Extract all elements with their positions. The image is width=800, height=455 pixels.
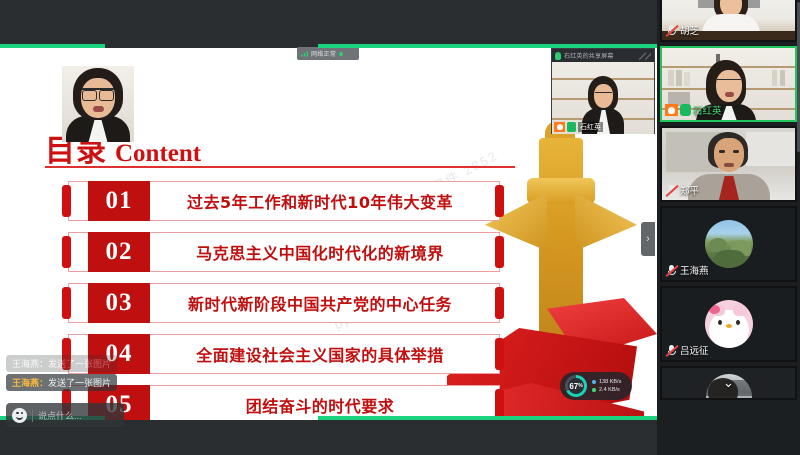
upload-rate: 2.4 KB/s — [599, 387, 620, 393]
divider — [32, 409, 33, 422]
chat-input-bar[interactable]: 说点什么... — [6, 403, 124, 427]
chat-message-body: 发送了一张图片 — [48, 378, 111, 388]
avatar — [705, 220, 753, 268]
mic-on-icon — [680, 104, 691, 116]
row-cap-right — [495, 236, 504, 268]
mic-muted-icon — [665, 264, 678, 277]
participant-name: 郑平 — [680, 183, 699, 197]
gauge-unit: % — [578, 383, 582, 389]
status-dot-icon — [339, 52, 343, 56]
participant-name: 王海燕 — [680, 263, 709, 277]
mic-muted-icon — [665, 344, 678, 357]
share-status-pill[interactable]: 网络正常 — [297, 47, 359, 60]
row-cap-left — [62, 236, 71, 268]
next-slide-button[interactable]: › — [641, 222, 655, 256]
participant-name: 吕远征 — [680, 343, 709, 357]
participant-tile[interactable]: 郑平 — [660, 126, 797, 202]
mic-on-icon — [567, 122, 576, 132]
participant-tile[interactable]: 吕远征 — [660, 286, 797, 362]
floating-window-title: 石红英的共享屏幕 — [564, 51, 636, 60]
mic-muted-icon — [665, 24, 678, 37]
chat-message: 王海燕：发送了一张图片 — [6, 355, 117, 372]
tile-badges: 吕远征 — [665, 343, 709, 357]
slide-content-list: 01 过去5年工作和新时代10年伟大变革 02 马克思主义中国化时代化的新境界 … — [58, 181, 500, 420]
share-border-top-right — [318, 44, 657, 48]
upload-dot-icon — [592, 388, 596, 392]
stat-lines: 138 KB/s 2.4 KB/s — [592, 379, 621, 393]
gauge-value: 67 — [569, 382, 578, 391]
speaker-pip-video[interactable] — [62, 66, 134, 142]
list-item-text: 全面建设社会主义国家的具体举措 — [158, 334, 482, 374]
row-cap-right — [495, 185, 504, 217]
avatar — [705, 300, 753, 348]
stat-line-download: 138 KB/s — [592, 379, 621, 385]
row-cap-right — [495, 338, 504, 370]
tile-badges: 胡芝 — [665, 23, 699, 37]
chat-message: 王海燕：发送了一张图片 — [6, 374, 117, 391]
row-cap-left — [62, 185, 71, 217]
participant-name: 石红英 — [693, 103, 722, 117]
list-item-number: 03 — [88, 283, 150, 323]
meeting-window: 网络正常 精品课件 2852 ppt x 86 39 目录 Content — [0, 0, 800, 455]
row-cap-right — [495, 287, 504, 319]
cpu-gauge: 67% — [565, 375, 587, 397]
chevron-down-icon[interactable]: ⌄ — [723, 375, 734, 391]
slide-title-en: Content — [115, 140, 201, 168]
list-item-text: 团结奋斗的时代要求 — [158, 385, 482, 420]
list-item-text: 过去5年工作和新时代10年伟大变革 — [158, 181, 482, 221]
list-item-text: 马克思主义中国化时代化的新境界 — [158, 232, 482, 272]
participant-tile-partial[interactable]: ⌄ — [660, 366, 797, 400]
tile-badges: 石红英 — [665, 103, 722, 117]
list-item: 02 马克思主义中国化时代化的新境界 — [58, 232, 500, 272]
shared-content-stage: 网络正常 精品课件 2852 ppt x 86 39 目录 Content — [0, 0, 657, 455]
list-item: 04 全面建设社会主义国家的具体举措 — [58, 334, 500, 374]
list-item-number: 01 — [88, 181, 150, 221]
stat-line-upload: 2.4 KB/s — [592, 387, 621, 393]
emoji-icon[interactable] — [12, 408, 27, 423]
list-item-number: 02 — [88, 232, 150, 272]
share-status-label: 网络正常 — [311, 49, 336, 58]
floating-window-video: 石红英 — [552, 62, 654, 134]
host-icon — [665, 104, 678, 116]
participant-name: 胡芝 — [680, 23, 699, 37]
floating-video-window[interactable]: 石红英的共享屏幕 石红英 — [551, 48, 655, 134]
download-rate: 138 KB/s — [599, 379, 621, 385]
signal-icon — [301, 51, 308, 57]
list-item: 03 新时代新阶段中国共产党的中心任务 — [58, 283, 500, 323]
share-border-bottom-right — [318, 416, 657, 420]
list-item: 01 过去5年工作和新时代10年伟大变革 — [58, 181, 500, 221]
participant-tile[interactable]: 王海燕 — [660, 206, 797, 282]
host-icon — [554, 122, 565, 132]
download-dot-icon — [592, 380, 596, 384]
chat-input[interactable]: 说点什么... — [38, 409, 118, 422]
floating-window-badges: 石红英 — [554, 122, 603, 132]
list-item-text: 新时代新阶段中国共产党的中心任务 — [158, 283, 482, 323]
participant-tile-active-speaker[interactable]: 石红英 — [660, 46, 797, 122]
chat-message-list: 王海燕：发送了一张图片 王海燕：发送了一张图片 — [6, 355, 117, 391]
list-item: 05 团结奋斗的时代要求 — [58, 385, 500, 420]
chevron-right-icon: › — [646, 233, 650, 245]
share-border-top-left — [0, 44, 105, 48]
tile-badges: 郑平 — [665, 183, 699, 197]
participant-rail[interactable]: 胡芝 石红英 — [657, 0, 800, 455]
minimize-icon[interactable] — [639, 52, 651, 60]
chat-message-sender: 王海燕： — [12, 378, 48, 388]
participant-tile[interactable]: 胡芝 — [660, 0, 797, 42]
mic-muted-icon — [665, 184, 678, 197]
row-cap-left — [62, 287, 71, 319]
network-stats-widget[interactable]: 67% 138 KB/s 2.4 KB/s — [560, 372, 632, 400]
mic-icon — [555, 52, 561, 60]
tile-badges: 王海燕 — [665, 263, 709, 277]
floating-window-titlebar[interactable]: 石红英的共享屏幕 — [552, 49, 654, 62]
floating-window-name: 石红英 — [578, 122, 603, 132]
